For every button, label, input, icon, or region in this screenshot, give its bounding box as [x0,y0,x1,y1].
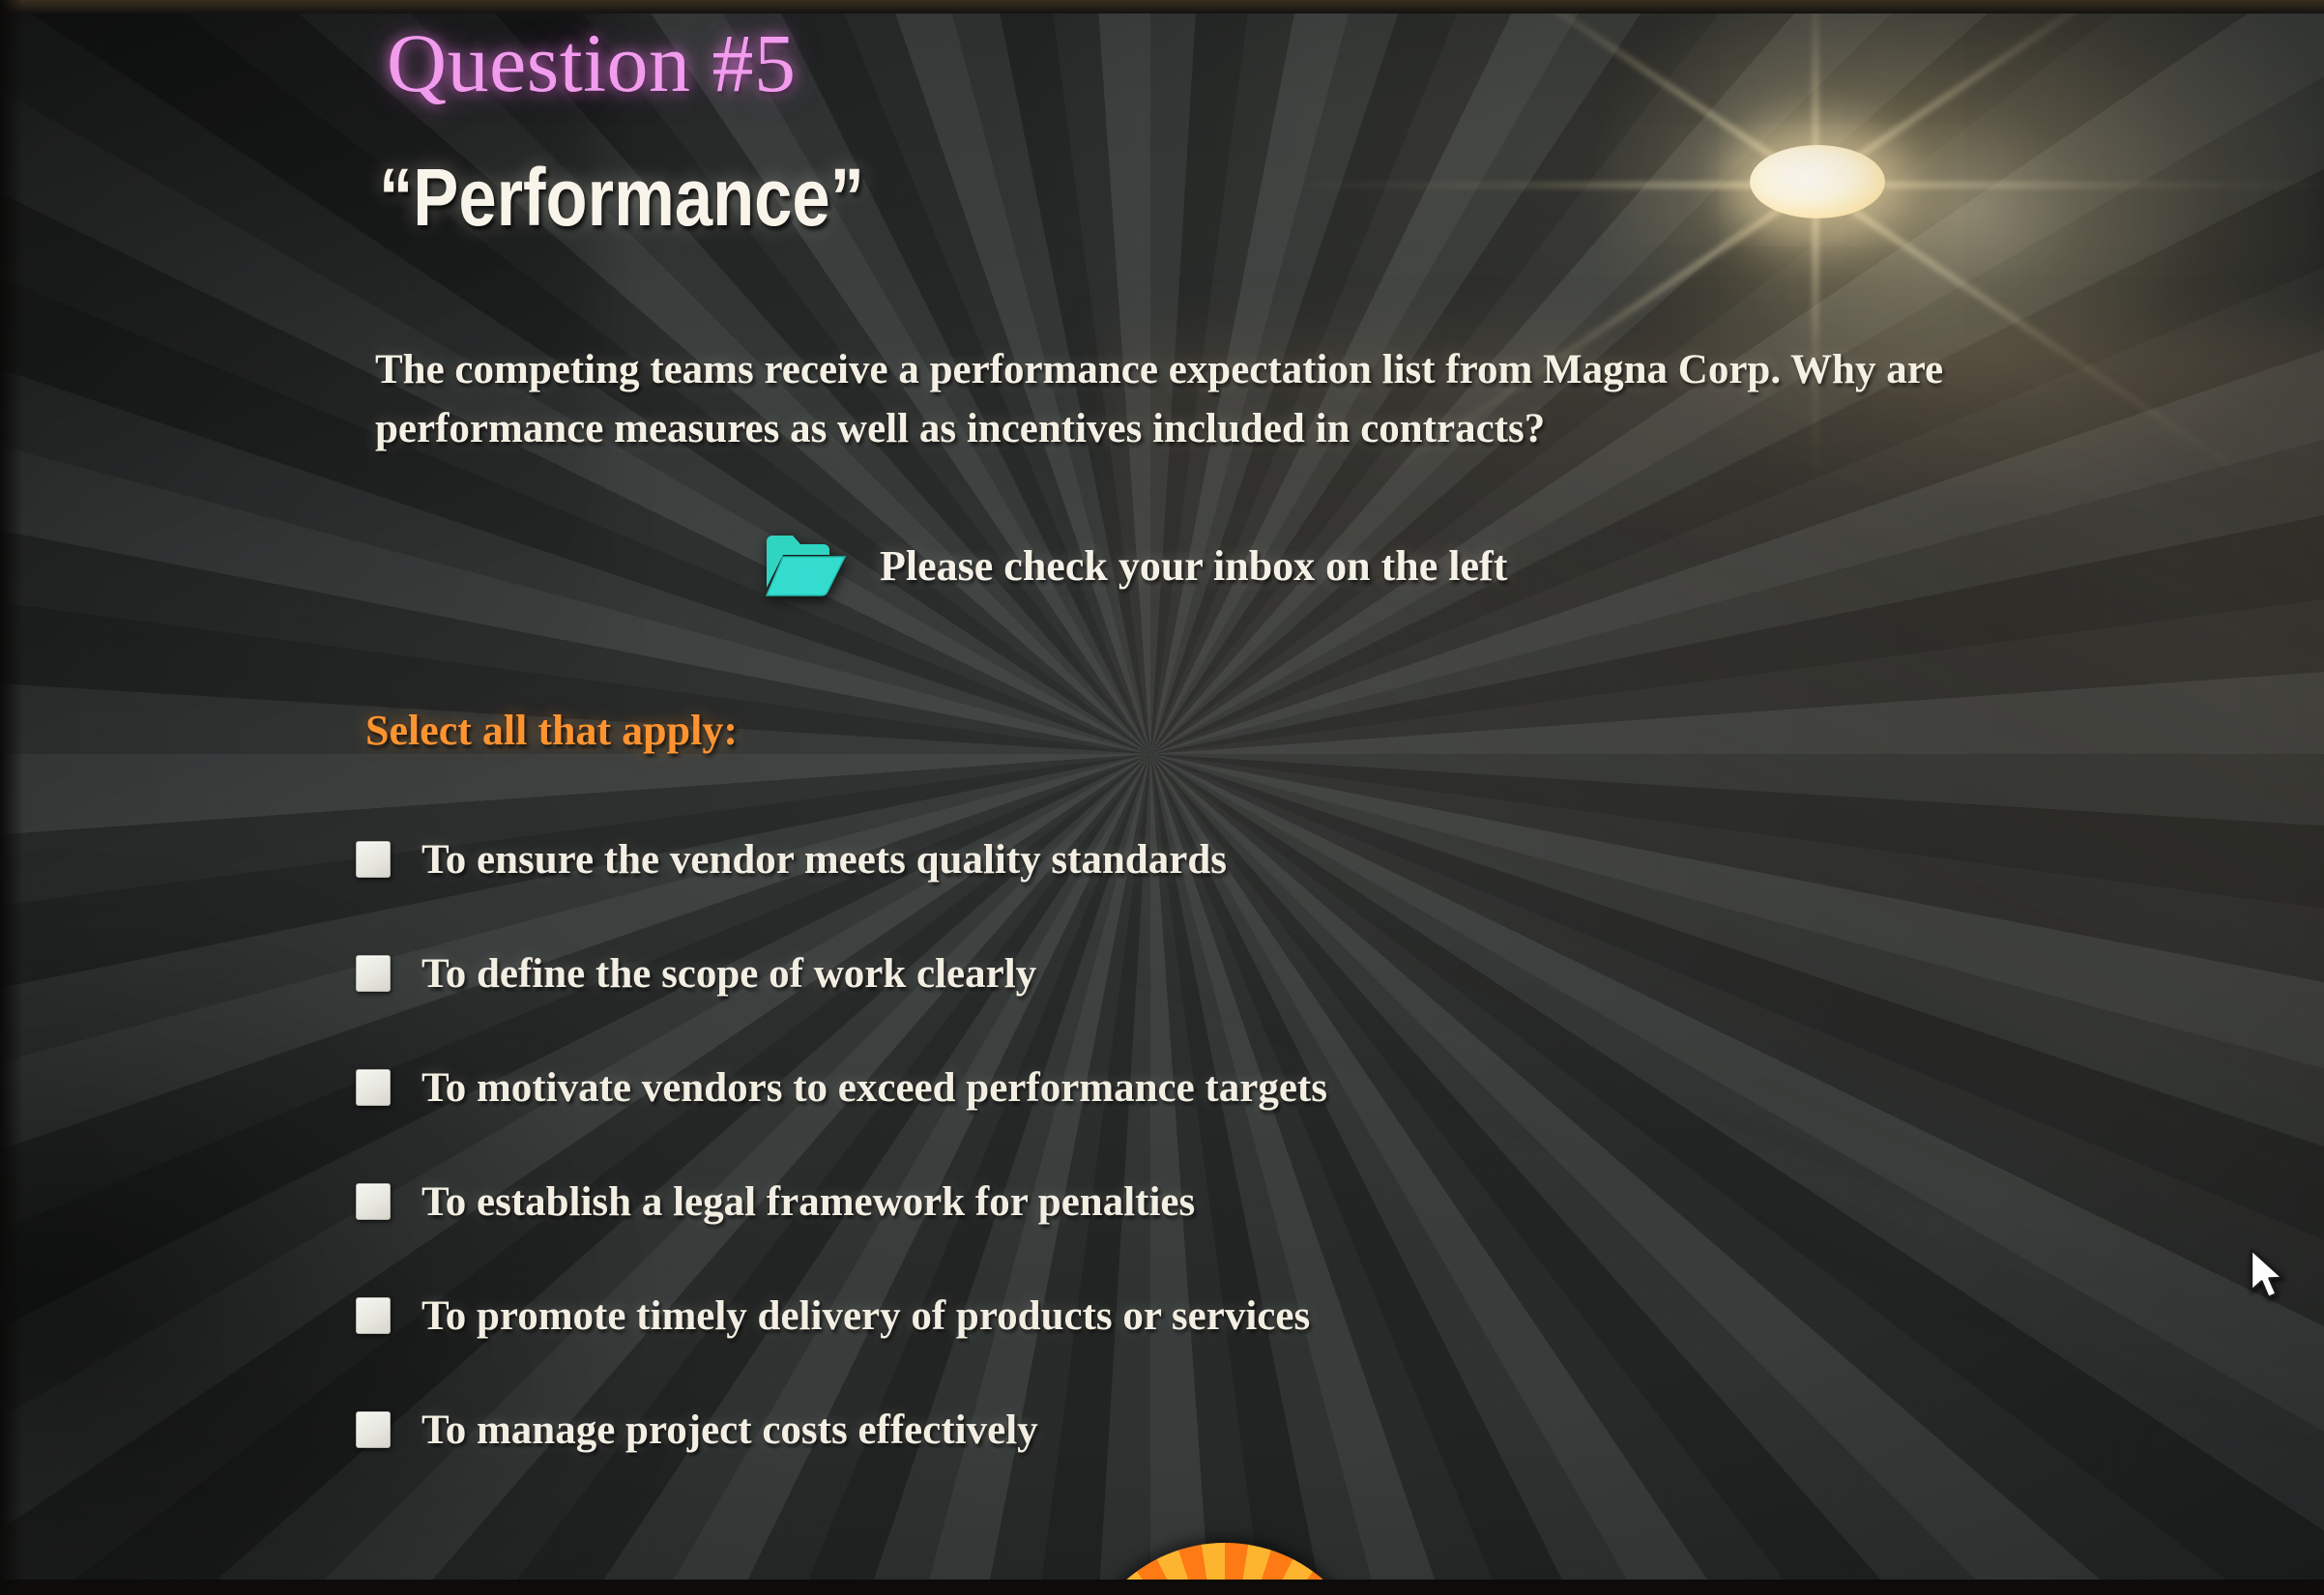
slide-content: Question #5 “Performance” The competing … [0,10,2324,1595]
checkbox-icon[interactable] [356,955,391,992]
photographed-screen: Question #5 “Performance” The competing … [0,0,2324,1595]
option-label[interactable]: To promote timely delivery of products o… [421,1292,1310,1340]
checkbox-icon[interactable] [356,1183,391,1220]
checkbox-icon[interactable] [356,841,391,878]
option-label[interactable]: To motivate vendors to exceed performanc… [421,1064,1327,1112]
option-row[interactable]: To define the scope of work clearly [356,936,1806,1011]
option-row[interactable]: To ensure the vendor meets quality stand… [356,822,1806,897]
option-row[interactable]: To manage project costs effectively [356,1392,1806,1467]
photo-left-edge [0,0,23,1595]
select-all-that-apply-label: Select all that apply: [365,706,738,755]
option-row[interactable]: To establish a legal framework for penal… [356,1164,1806,1239]
option-label[interactable]: To establish a legal framework for penal… [421,1178,1195,1226]
checkbox-icon[interactable] [356,1069,391,1106]
photo-top-edge [0,0,2324,14]
quiz-slide-screen: Question #5 “Performance” The competing … [0,10,2324,1595]
open-folder-icon [764,534,847,597]
photo-bottom-edge [0,1580,2324,1595]
checkbox-icon[interactable] [356,1297,391,1334]
checkbox-icon[interactable] [356,1411,391,1448]
option-row[interactable]: To motivate vendors to exceed performanc… [356,1050,1806,1125]
options-list: To ensure the vendor meets quality stand… [356,822,1806,1506]
question-body-text: The competing teams receive a performanc… [375,340,1961,458]
option-row[interactable]: To promote timely delivery of products o… [356,1278,1806,1353]
question-number: Question #5 [387,21,797,104]
option-label[interactable]: To manage project costs effectively [421,1406,1038,1454]
inbox-notice-text: Please check your inbox on the left [880,541,1507,591]
option-label[interactable]: To ensure the vendor meets quality stand… [421,836,1227,884]
page-title: “Performance” [379,157,864,238]
inbox-notice: Please check your inbox on the left [764,534,1507,597]
mouse-pointer-cursor [2249,1248,2289,1309]
option-label[interactable]: To define the scope of work clearly [421,950,1036,998]
